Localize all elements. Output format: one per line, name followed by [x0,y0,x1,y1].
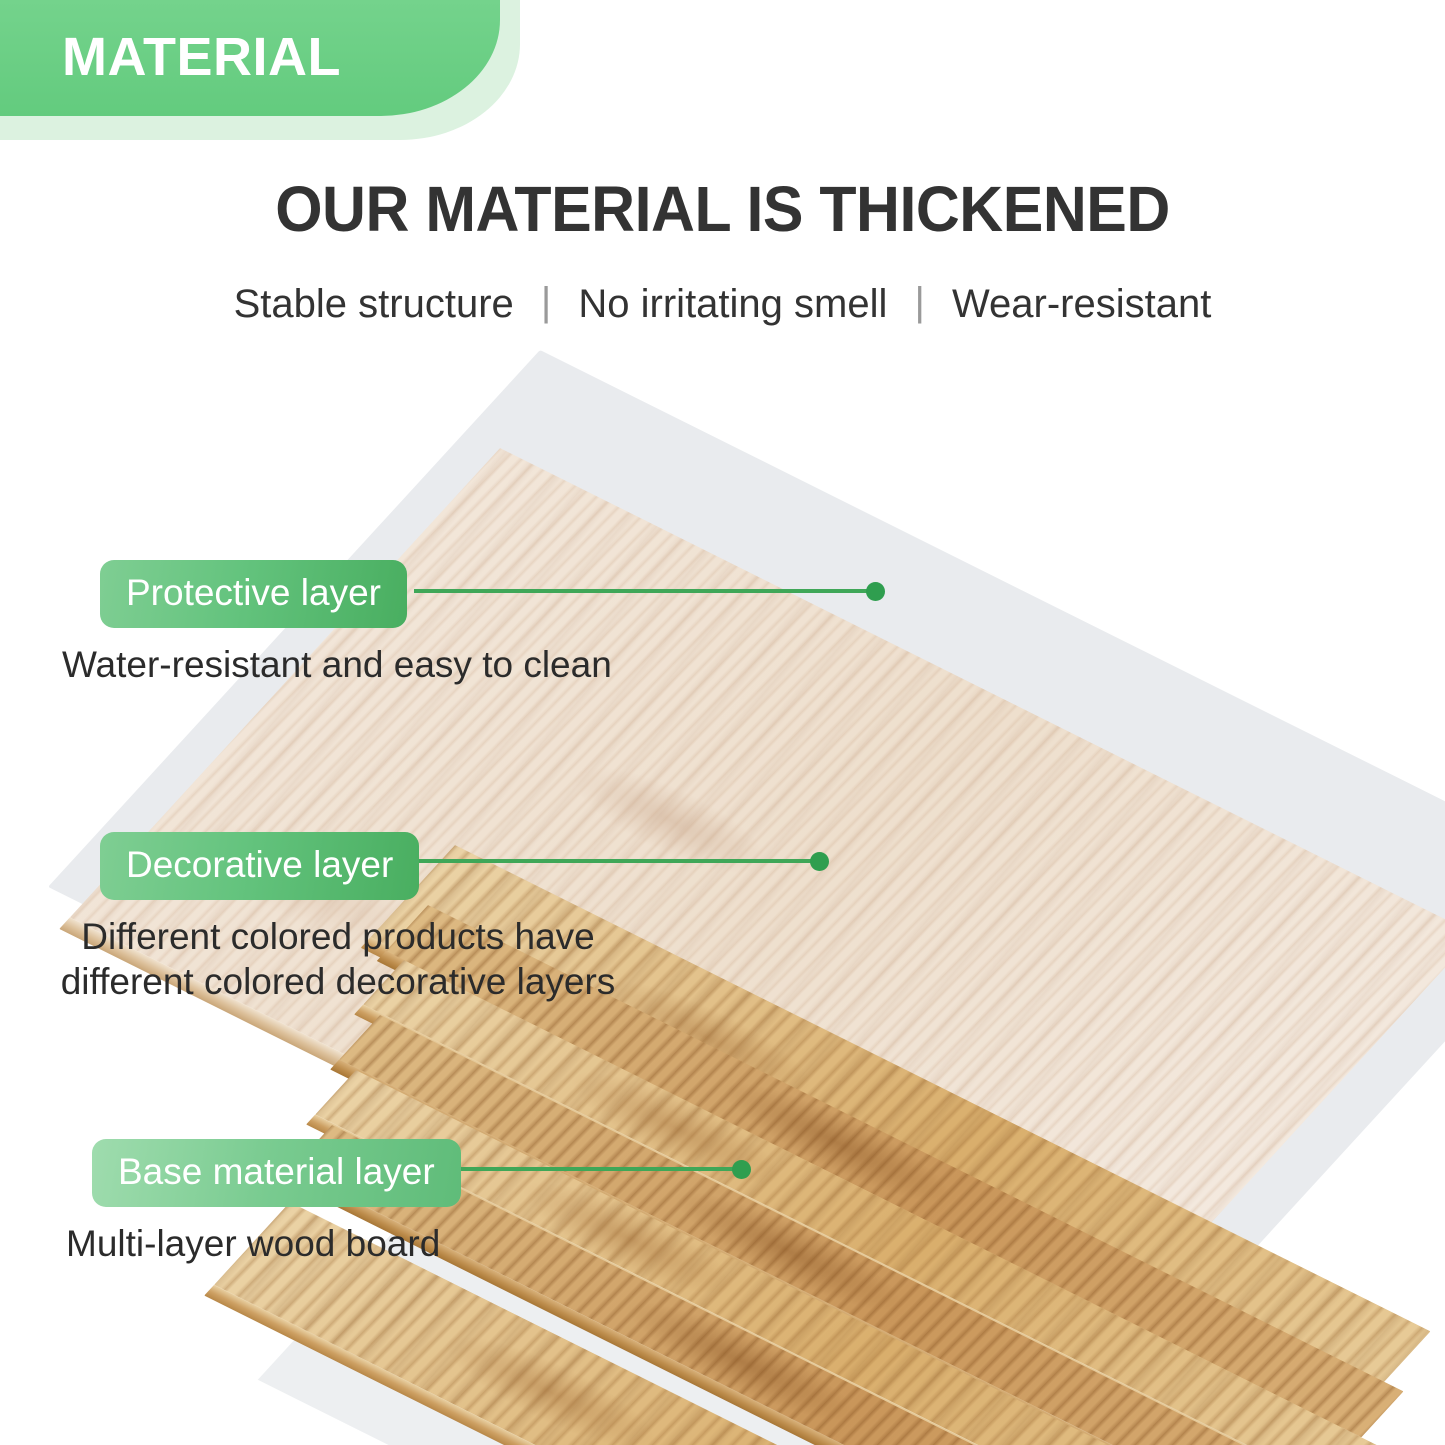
callout-decorative-layer: Decorative layer Different colored produ… [100,832,628,1004]
material-ribbon: MATERIAL [0,0,600,150]
ribbon-label: MATERIAL [62,14,341,100]
callout-tag-protective: Protective layer [100,560,407,628]
feature-item-2: Wear-resistant [952,282,1211,326]
callout-tag-base: Base material layer [92,1139,461,1207]
callout-desc-base: Multi-layer wood board [66,1221,461,1266]
callout-base-material-layer: Base material layer Multi-layer wood boa… [92,1139,461,1266]
feature-item-0: Stable structure [234,282,514,326]
callout-desc-decorative-line-0: Different colored products have [48,914,628,959]
ribbon-body: MATERIAL [0,0,500,116]
leader-dot-protective [866,582,885,601]
leader-dot-base [732,1160,751,1179]
callout-tag-decorative: Decorative layer [100,832,419,900]
feature-item-1: No irritating smell [578,282,887,326]
leader-line-base [414,1167,742,1171]
feature-subtitle: Stable structure | No irritating smell |… [0,282,1445,327]
callout-protective-layer: Protective layer Water-resistant and eas… [100,560,612,687]
callout-desc-protective: Water-resistant and easy to clean [62,642,612,687]
infographic-canvas: MATERIAL OUR MATERIAL IS THICKENED Stabl… [0,0,1445,1445]
callout-desc-decorative-line-1: different colored decorative layers [48,959,628,1004]
feature-separator-1: | [915,280,925,325]
feature-separator-0: | [541,280,551,325]
leader-dot-decorative [810,852,829,871]
callout-desc-decorative: Different colored products have differen… [48,914,628,1004]
page-title: OUR MATERIAL IS THICKENED [36,172,1409,246]
